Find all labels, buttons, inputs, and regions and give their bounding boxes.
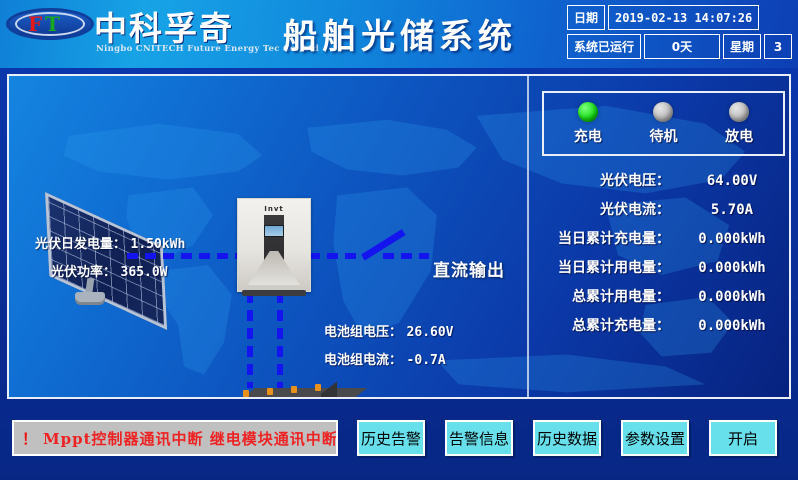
- metric-label: 光伏电压：: [532, 170, 670, 190]
- logo-mark-icon: F T: [6, 8, 98, 42]
- metric-row: 总累计用电量：0.000kWh: [532, 286, 791, 308]
- battery-current-label: 电池组电流：: [324, 353, 402, 368]
- metric-row: 总累计充电量：0.000kWh: [532, 315, 791, 337]
- lamp-indicator-icon: [653, 102, 673, 122]
- metric-value: 0.000kWh: [670, 260, 791, 276]
- battery-voltage-row: 电池组电压： 26.60V: [324, 321, 454, 340]
- company-logo: F T 中科孚奇 Ningbo CNITECH Future Energy Te…: [6, 4, 246, 62]
- runtime-value: 0天: [644, 34, 720, 59]
- battery-current-row: 电池组电流： -0.7A: [324, 349, 446, 368]
- metric-row: 光伏电流：5.70A: [532, 199, 791, 221]
- pv-daily-energy-label: 光伏日发电量：: [35, 237, 126, 252]
- weekday-value: 3: [764, 34, 792, 59]
- inverter-to-battery-line-a: [247, 292, 253, 388]
- metric-label: 当日累计充电量：: [532, 228, 670, 248]
- runtime-label: 系统已运行: [567, 34, 641, 59]
- pv-daily-energy-row: 光伏日发电量： 1.50kWh: [35, 233, 185, 252]
- mode-lamp-0: 充电: [574, 102, 602, 146]
- logo-letter-f: F: [28, 12, 41, 36]
- header-info-block: 日期 2019-02-13 14:07:26 系统已运行 0天 星期 3: [567, 5, 792, 63]
- pv-power-row: 光伏功率： 365.0W: [51, 261, 168, 280]
- metric-value: 0.000kWh: [670, 231, 791, 247]
- app-header: F T 中科孚奇 Ningbo CNITECH Future Energy Te…: [0, 0, 798, 68]
- alarm-warning-icon: ！: [14, 428, 43, 449]
- inverter-to-dc-line-a: [309, 253, 367, 259]
- inverter-icon: Invt: [237, 198, 311, 292]
- metric-value: 5.70A: [670, 202, 791, 218]
- metric-row: 当日累计用电量：0.000kWh: [532, 257, 791, 279]
- dc-output-label: 直流输出: [433, 256, 505, 281]
- metric-value: 0.000kWh: [670, 289, 791, 305]
- inverter-brand-label: Invt: [264, 205, 284, 213]
- alarm-info-button[interactable]: 告警信息: [445, 420, 513, 456]
- alarm-banner[interactable]: ！ Mppt控制器通讯中断 继电模块通讯中断: [12, 420, 338, 456]
- main-diagram-panel: Invt 直流输出 光伏日发电量：: [7, 74, 791, 399]
- panel-divider: [527, 76, 529, 399]
- mode-lamp-2: 放电: [725, 102, 753, 146]
- battery-voltage-label: 电池组电压：: [324, 325, 402, 340]
- runtime-row: 系统已运行 0天 星期 3: [567, 34, 792, 59]
- inverter-to-dc-line-b: [383, 253, 429, 259]
- lamp-indicator-icon: [578, 102, 598, 122]
- logo-letter-t: T: [45, 12, 59, 36]
- metric-row: 光伏电压：64.00V: [532, 170, 791, 192]
- metric-row: 当日累计充电量：0.000kWh: [532, 228, 791, 250]
- weekday-label: 星期: [723, 34, 761, 59]
- metric-label: 光伏电流：: [532, 199, 670, 219]
- power-on-button[interactable]: 开启: [709, 420, 777, 456]
- date-row: 日期 2019-02-13 14:07:26: [567, 5, 792, 30]
- lamp-label: 待机: [649, 126, 677, 146]
- pv-power-label: 光伏功率：: [51, 265, 116, 280]
- battery-voltage-value: 26.60V: [407, 325, 454, 340]
- pv-daily-energy-value: 1.50kWh: [131, 237, 186, 252]
- alarm-message: Mppt控制器通讯中断 继电模块通讯中断: [43, 428, 338, 449]
- date-label: 日期: [567, 5, 605, 30]
- metric-label: 总累计充电量：: [532, 315, 670, 335]
- metric-value: 64.00V: [670, 173, 791, 189]
- mode-lamp-1: 待机: [649, 102, 677, 146]
- page-title: 船舶光储系统: [250, 9, 550, 58]
- history-alarm-button[interactable]: 历史告警: [357, 420, 425, 456]
- mode-status-box: 充电待机放电: [542, 91, 785, 156]
- parameter-settings-button[interactable]: 参数设置: [621, 420, 689, 456]
- battery-current-value: -0.7A: [407, 353, 446, 368]
- lamp-label: 充电: [574, 126, 602, 146]
- pv-power-value: 365.0W: [121, 265, 168, 280]
- company-name-cn: 中科孚奇: [94, 2, 234, 50]
- date-value: 2019-02-13 14:07:26: [608, 5, 759, 30]
- pv-to-inverter-line: [127, 253, 239, 259]
- history-data-button[interactable]: 历史数据: [533, 420, 601, 456]
- lamp-label: 放电: [725, 126, 753, 146]
- metric-value: 0.000kWh: [670, 318, 791, 334]
- battery-bank-icon: [209, 388, 339, 399]
- scada-screen: F T 中科孚奇 Ningbo CNITECH Future Energy Te…: [0, 0, 798, 480]
- metrics-list: 光伏电压：64.00V光伏电流：5.70A当日累计充电量：0.000kWh当日累…: [532, 170, 791, 344]
- metric-label: 当日累计用电量：: [532, 257, 670, 277]
- inverter-to-battery-line-b: [277, 292, 283, 388]
- metric-label: 总累计用电量：: [532, 286, 670, 306]
- lamp-indicator-icon: [729, 102, 749, 122]
- mode-lamp-list: 充电待机放电: [544, 93, 783, 154]
